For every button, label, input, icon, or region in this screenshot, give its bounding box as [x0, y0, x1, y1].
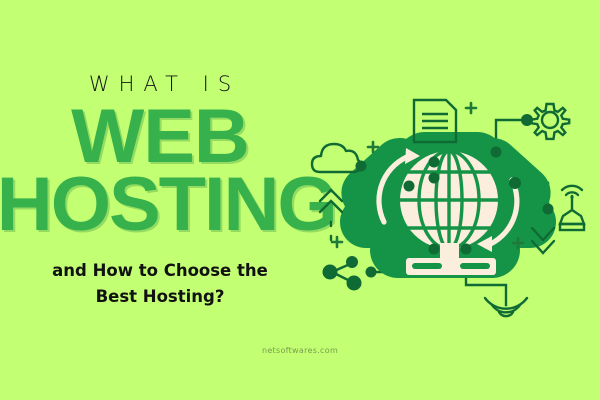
node-gear-arm [491, 147, 502, 158]
share-nodes-icon [323, 256, 362, 291]
node-globe-right [509, 177, 521, 189]
gear-icon [531, 104, 569, 139]
node-router [543, 204, 554, 215]
cloud-icon [312, 144, 360, 172]
hosting-illustration [310, 0, 600, 400]
node-share-in [429, 244, 440, 255]
node-cloud [356, 161, 367, 172]
chevron-double-up-icon [320, 190, 342, 244]
node-cloud-in [404, 181, 415, 192]
node-hub [429, 157, 440, 168]
node-wifi-in [461, 244, 472, 255]
plus-marker-top [466, 103, 476, 113]
subheadline-line-2: Best Hosting? [0, 284, 320, 310]
node-gear [521, 114, 533, 126]
headline-text-block: WHAT IS WEB HOSTING and How to Choose th… [0, 0, 320, 400]
headline-line-web: WEB [0, 104, 323, 169]
globe-icon [400, 151, 498, 249]
router-wifi-icon [560, 186, 584, 230]
illustration-svg [310, 0, 600, 400]
node-share [366, 267, 377, 278]
eyebrow-text: WHAT IS [0, 74, 320, 95]
subheadline-line-1: and How to Choose the [0, 258, 320, 284]
node-hub-lower [429, 173, 440, 184]
poster-canvas: WHAT IS WEB HOSTING and How to Choose th… [0, 0, 600, 400]
plus-marker-lower-left [332, 237, 342, 247]
headline-line-hosting: HOSTING [0, 172, 323, 237]
subheadline: and How to Choose the Best Hosting? [0, 258, 320, 309]
